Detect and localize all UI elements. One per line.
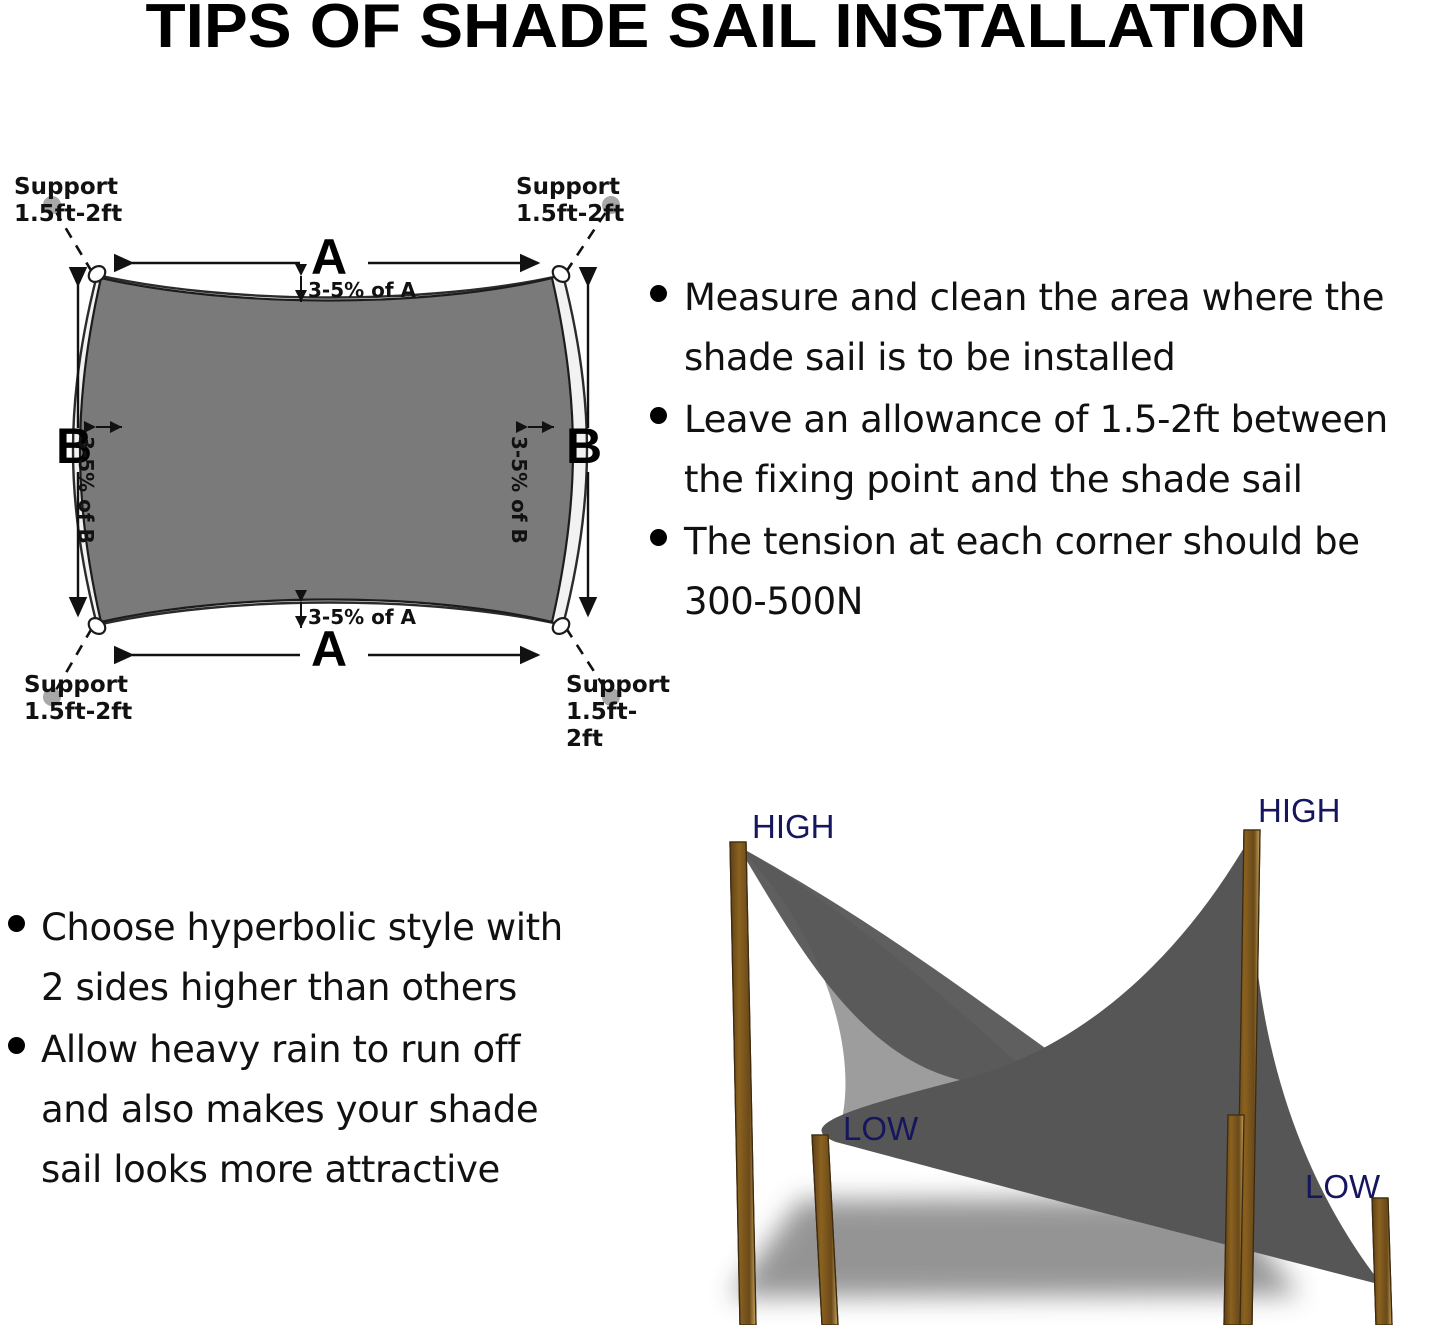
list-item: Leave an allowance of 1.5-2ft between th… xyxy=(650,390,1452,510)
dim-label-top-a: A xyxy=(311,232,347,282)
support-label-top-left: Support 1.5ft-2ft xyxy=(14,174,122,228)
curve-note-top: 3-5% of A xyxy=(308,278,416,302)
tip-text: Leave an allowance of 1.5-2ft between th… xyxy=(684,390,1388,510)
label-high-left: HIGH xyxy=(752,808,835,846)
dim-label-bottom-a: A xyxy=(311,624,347,674)
list-item: The tension at each corner should be 300… xyxy=(650,512,1452,632)
list-item: Allow heavy rain to run off and also mak… xyxy=(8,1020,638,1200)
bullet-dot-icon xyxy=(8,1037,25,1054)
bullet-dot-icon xyxy=(650,529,667,546)
hyper-diagram-svg xyxy=(660,780,1452,1325)
tip-text: Measure and clean the area where the sha… xyxy=(684,268,1384,388)
support-label-bottom-left: Support 1.5ft-2ft xyxy=(24,672,132,726)
sail-fabric xyxy=(80,278,573,622)
style-tip-text: Allow heavy rain to run off and also mak… xyxy=(41,1020,538,1200)
label-high-right: HIGH xyxy=(1258,792,1341,830)
label-low-left: LOW xyxy=(843,1110,918,1148)
dim-label-right-b: B xyxy=(566,421,602,471)
style-tip-text: Choose hyperbolic style with 2 sides hig… xyxy=(41,898,563,1018)
label-low-right: LOW xyxy=(1305,1168,1380,1206)
bullet-dot-icon xyxy=(650,407,667,424)
post-low-right-front xyxy=(1372,1198,1392,1325)
list-item: Choose hyperbolic style with 2 sides hig… xyxy=(8,898,638,1018)
hyperbolic-style-tips-list: Choose hyperbolic style with 2 sides hig… xyxy=(8,898,638,1202)
list-item: Measure and clean the area where the sha… xyxy=(650,268,1452,388)
page-title: TIPS OF SHADE SAIL INSTALLATION xyxy=(0,0,1452,59)
support-label-bottom-right: Support 1.5ft-2ft xyxy=(566,672,670,753)
rectangular-sail-diagram: Support 1.5ft-2ft Support 1.5ft-2ft Supp… xyxy=(0,150,660,750)
tip-text: The tension at each corner should be 300… xyxy=(684,512,1360,632)
curve-note-left: 3-5% of B xyxy=(74,436,98,544)
bullet-dot-icon xyxy=(650,285,667,302)
support-label-top-right: Support 1.5ft-2ft xyxy=(516,174,624,228)
post-high-left-front xyxy=(730,842,756,1325)
curve-note-bottom: 3-5% of A xyxy=(308,605,416,629)
curve-note-right: 3-5% of B xyxy=(507,436,531,544)
bullet-dot-icon xyxy=(8,915,25,932)
post-low-right-rear-front xyxy=(1224,1115,1244,1325)
hyperbolic-sail-diagram: HIGH HIGH LOW LOW xyxy=(660,780,1452,1325)
installation-tips-list: Measure and clean the area where the sha… xyxy=(650,268,1452,634)
